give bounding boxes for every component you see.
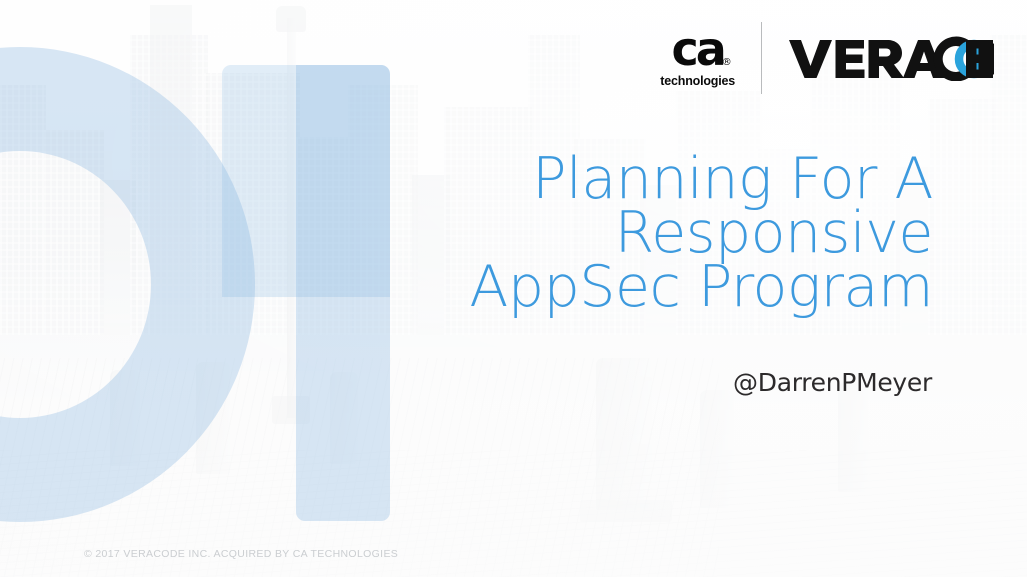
veracode-logo-svg [788, 35, 994, 81]
headline-block: Planning For A Responsive AppSec Program [293, 152, 933, 314]
ca-logo-letters: ca [671, 22, 723, 76]
footer-copyright: © 2017 VERACODE INC. ACQUIRED BY CA TECH… [84, 548, 398, 560]
presenter-handle: @DarrenPMeyer [733, 368, 932, 397]
ca-technologies-logo: ca® technologies [660, 28, 761, 87]
veracode-logo [788, 22, 994, 94]
ca-logo-mark: ca® [671, 28, 723, 70]
logo-divider [761, 22, 762, 94]
logo-bar: ca® technologies [660, 22, 994, 94]
page-title: Planning For A Responsive AppSec Program [293, 152, 933, 314]
title-slide: ca® technologies [0, 0, 1027, 577]
registered-trademark-icon: ® [722, 58, 732, 67]
